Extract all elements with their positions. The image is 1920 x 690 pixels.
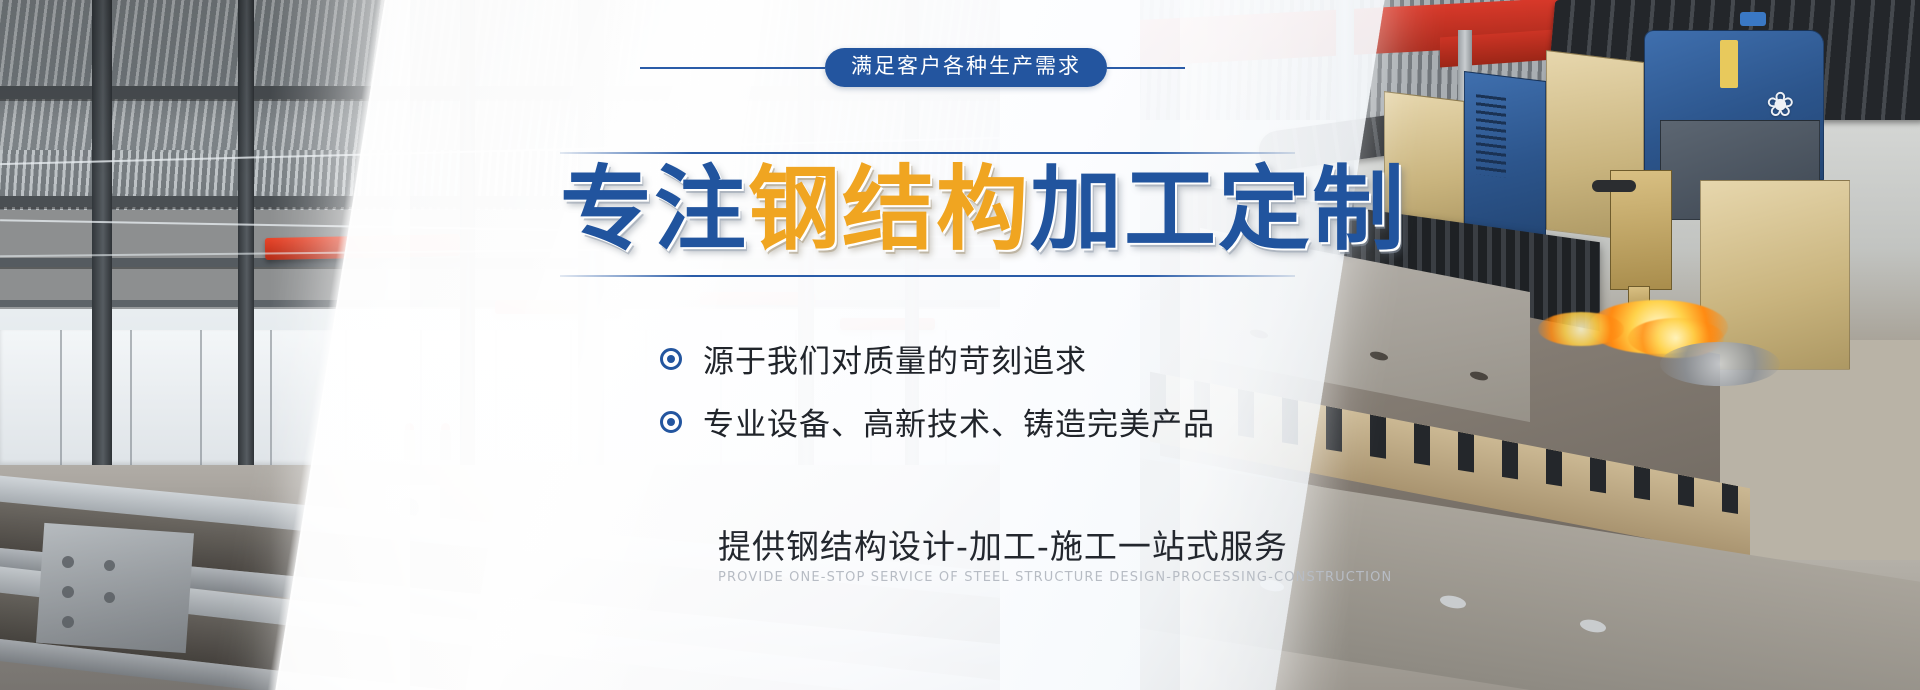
bullet-dot-icon [660,411,682,433]
service-tagline-english: PROVIDE ONE-STOP SERVICE OF STEEL STRUCT… [718,570,1392,585]
tagline-badge-row: 满足客户各种生产需求 [640,48,1185,87]
list-item: 专业设备、高新技术、铸造完美产品 [660,399,1215,444]
promo-badge: 满足客户各种生产需求 [825,48,1107,87]
page-title: 专注钢结构加工定制 [560,160,1360,259]
headline-part-3: 加工定制 [1030,156,1406,263]
service-tagline: 提供钢结构设计-加工-施工一站式服务 [718,520,1288,568]
list-item-label: 专业设备、高新技术、铸造完美产品 [703,399,1215,444]
badge-rule-right [1107,67,1185,69]
bullet-dot-icon [660,348,682,370]
headline-part-1: 专注 [560,156,748,263]
headline-rule-bottom [560,275,1295,277]
list-item: 源于我们对质量的苛刻追求 [660,336,1215,381]
headline-rule-top [560,152,1295,154]
banner-content: 满足客户各种生产需求 专注钢结构加工定制 源于我们对质量的苛刻追求 专业设备、高… [0,0,1920,690]
hero-banner: ❀ 满足客户各种生产需 [0,0,1920,690]
headline-part-2: 钢结构 [748,156,1030,263]
badge-rule-left [640,67,825,69]
list-item-label: 源于我们对质量的苛刻追求 [703,336,1087,381]
feature-list: 源于我们对质量的苛刻追求 专业设备、高新技术、铸造完美产品 [660,336,1215,462]
